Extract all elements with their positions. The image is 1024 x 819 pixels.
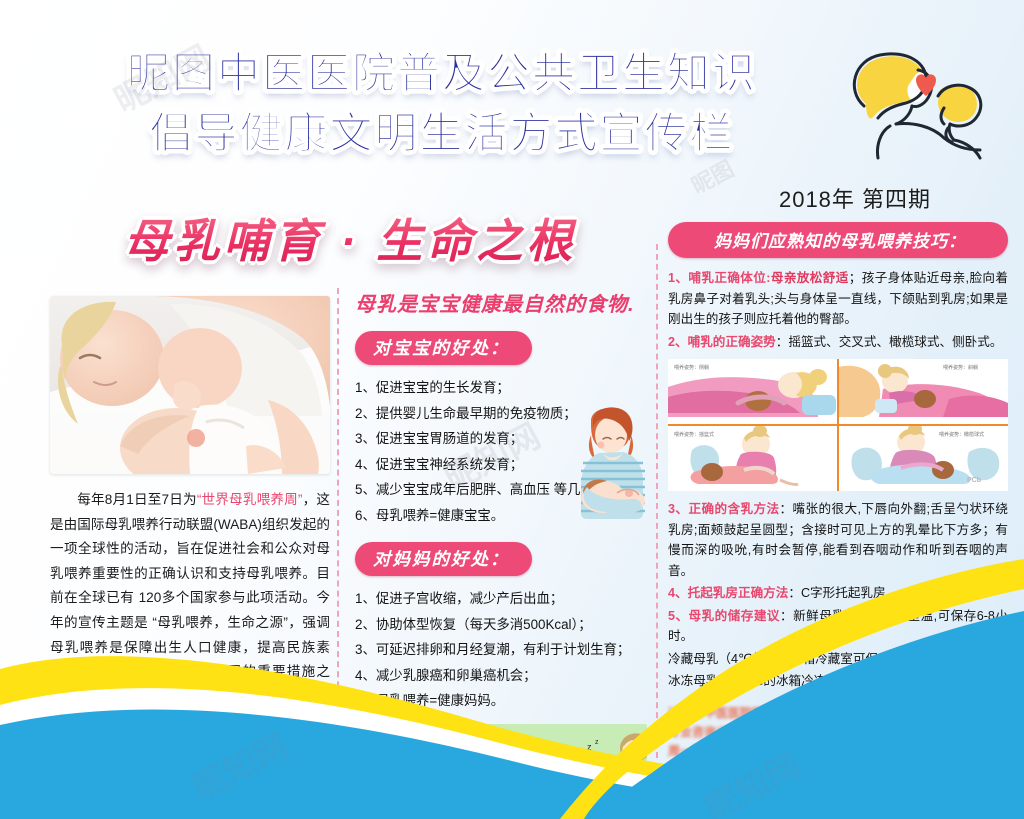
- position-cradle: 喂养姿势：摇篮式: [668, 426, 837, 491]
- header-title-block: 昵图中医医院普及公共卫生知识 倡导健康文明生活方式宣传栏: [62, 44, 822, 164]
- svg-text:PCb: PCb: [967, 477, 981, 484]
- position-side-lying: 喂养姿势：侧躺: [668, 359, 837, 424]
- position-reclined: 喂养姿势：斜躺: [839, 359, 1008, 424]
- poster-header: 昵图中医医院普及公共卫生知识 倡导健康文明生活方式宣传栏: [0, 44, 1024, 179]
- bottom-wave-decoration: [0, 519, 1024, 819]
- tip-item-2: 2、哺乳的正确姿势：摇篮式、交叉式、橄榄球式、侧卧式。: [668, 332, 1008, 353]
- para-seg-0: 每年8月1日至7日为: [77, 492, 197, 507]
- tip-3-num: 3、: [668, 502, 688, 516]
- para-seg-1: “世界母乳喂养周”: [197, 492, 303, 507]
- svg-text:喂养姿势：斜躺: 喂养姿势：斜躺: [943, 364, 978, 371]
- tip-1-num: 1、: [668, 271, 688, 285]
- position-football: 喂养姿势：橄榄球式 PCb: [839, 426, 1008, 491]
- breastfeeding-photo: [50, 296, 330, 474]
- tip-2-key: 哺乳的正确姿势: [688, 335, 776, 349]
- header-title-line-1: 昵图中医医院普及公共卫生知识: [62, 44, 822, 104]
- tip-1-key2: 母亲放松舒适: [770, 271, 848, 285]
- poster-canvas: 昵图中医医院普及公共卫生知识 倡导健康文明生活方式宣传栏: [0, 0, 1024, 819]
- svg-text:喂养姿势：摇篮式: 喂养姿势：摇篮式: [674, 431, 714, 438]
- tips-pill: 妈妈们应熟知的母乳喂养技巧：: [668, 222, 1008, 258]
- list-item: 1、促进宝宝的生长发育；: [355, 375, 647, 401]
- middle-headline: 母乳是宝宝健康最自然的食物.: [355, 288, 647, 317]
- tip-3-key: 正确的含乳方法: [688, 502, 779, 516]
- baby-benefits-pill: 对宝宝的好处：: [355, 331, 532, 365]
- mother-holding-baby-cartoon: [569, 405, 655, 525]
- mother-and-baby-logo: [840, 46, 1000, 161]
- issue-label: 2018年 第四期: [700, 182, 1010, 214]
- tip-item-1: 1、哺乳正确体位:母亲放松舒适；孩子身体贴近母亲,脸向着乳房鼻子对着乳头;头与身…: [668, 268, 1008, 330]
- grid-divider-horizontal: [668, 424, 1008, 426]
- svg-text:喂养姿势：橄榄球式: 喂养姿势：橄榄球式: [939, 431, 984, 438]
- feeding-positions-grid: 喂养姿势：侧躺 喂养姿势：斜躺: [668, 359, 1008, 491]
- header-title-line-2: 倡导健康文明生活方式宣传栏: [62, 104, 822, 164]
- main-slogan: 母乳哺育 · 生命之根: [50, 205, 650, 271]
- tip-2-num: 2、: [668, 335, 688, 349]
- svg-text:喂养姿势：侧躺: 喂养姿势：侧躺: [674, 364, 709, 371]
- tip-1-key: 哺乳正确体位:: [688, 271, 770, 285]
- tip-2-body: ：摇篮式、交叉式、橄榄球式、侧卧式。: [776, 335, 1003, 349]
